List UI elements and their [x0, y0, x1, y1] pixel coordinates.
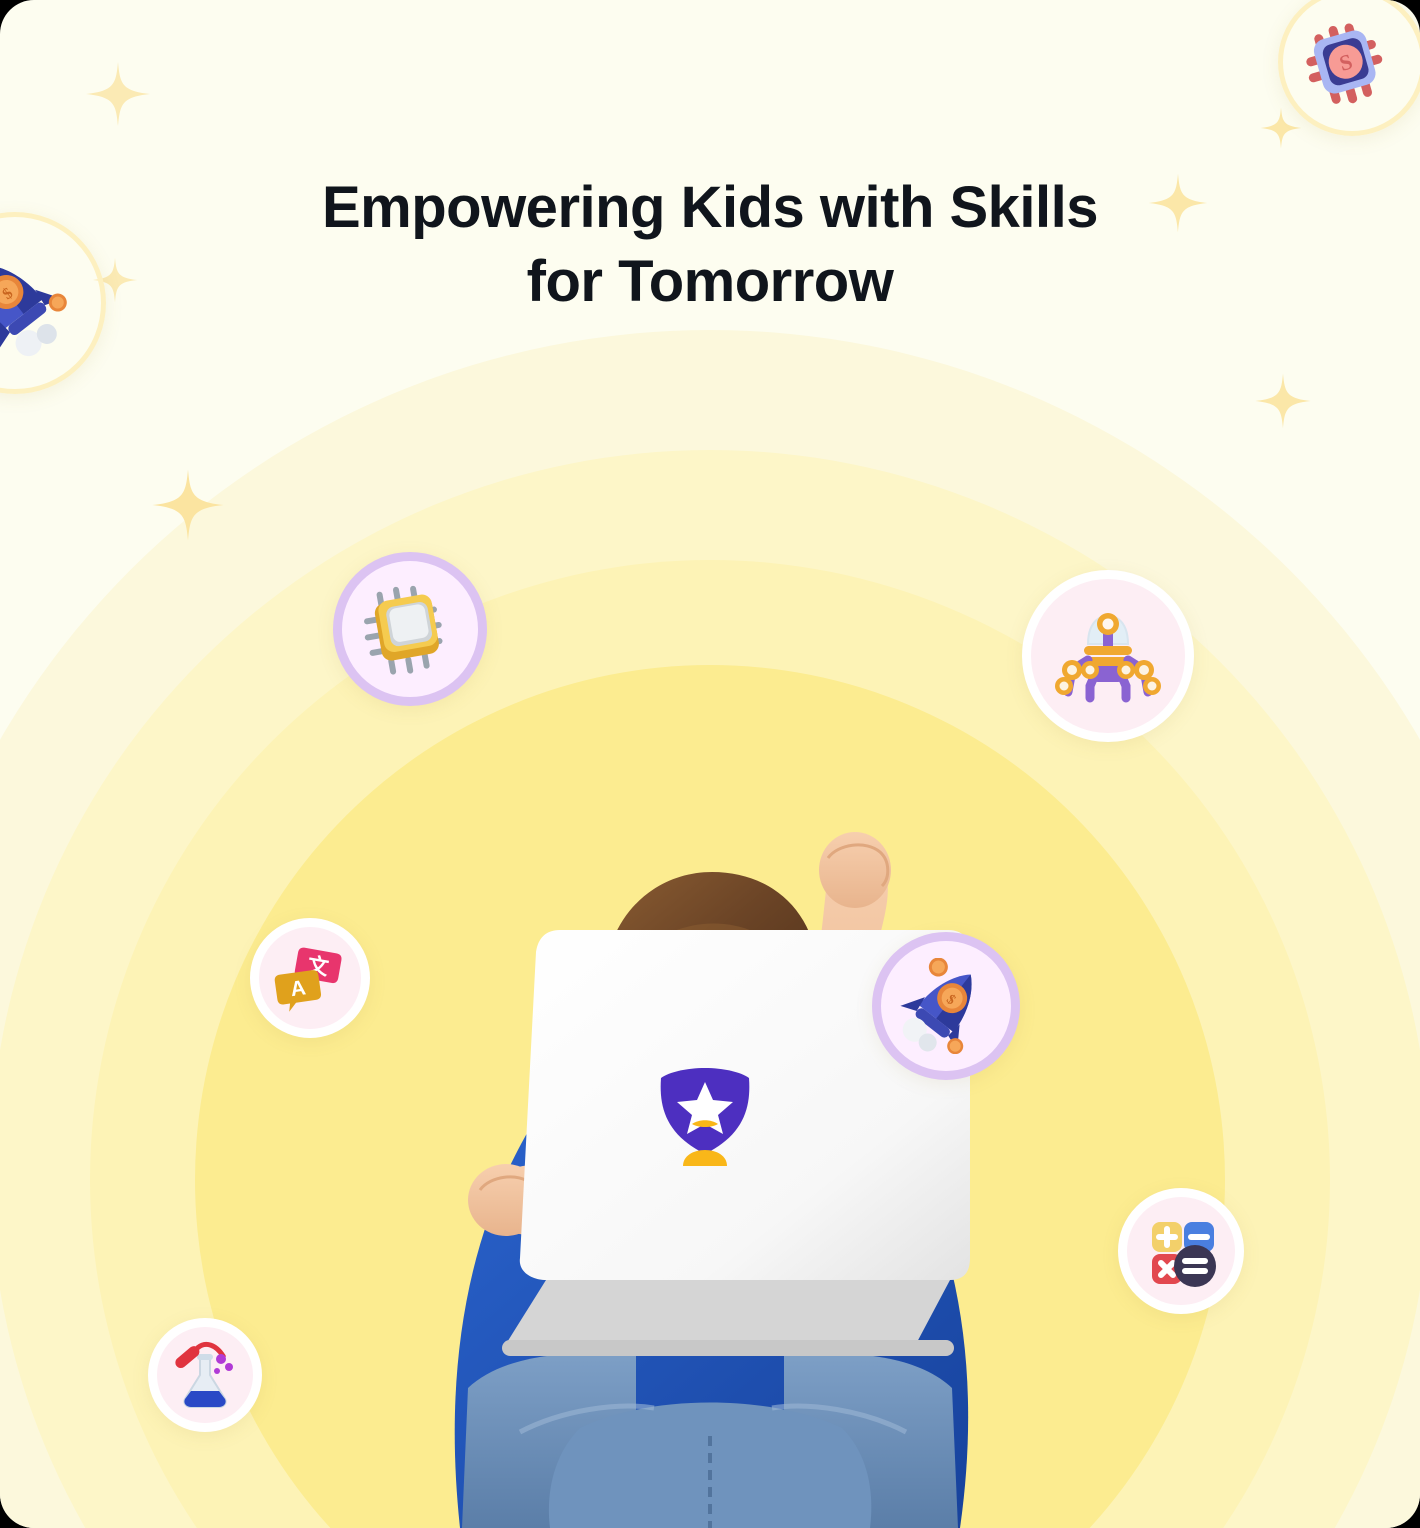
hero-card: Empowering Kids with Skills for Tomorrow [0, 0, 1420, 1528]
page-title-line-1: Empowering Kids with Skills [0, 171, 1420, 245]
sparkle-right-upper [1252, 370, 1314, 432]
calculator-icon[interactable] [1118, 1188, 1244, 1314]
sparkle-top-left [82, 58, 154, 130]
language-icon[interactable]: 文 A [250, 918, 370, 1038]
robot-icon[interactable] [1022, 570, 1194, 742]
rocket-finance-icon[interactable]: $ [872, 932, 1020, 1080]
science-flask-icon[interactable] [148, 1318, 262, 1432]
microchip-icon[interactable] [333, 552, 487, 706]
page-title-line-2: for Tomorrow [0, 245, 1420, 319]
svg-text:A: A [289, 976, 307, 1001]
page-title: Empowering Kids with Skills for Tomorrow [0, 171, 1420, 319]
sparkle-mid-left [148, 465, 228, 545]
